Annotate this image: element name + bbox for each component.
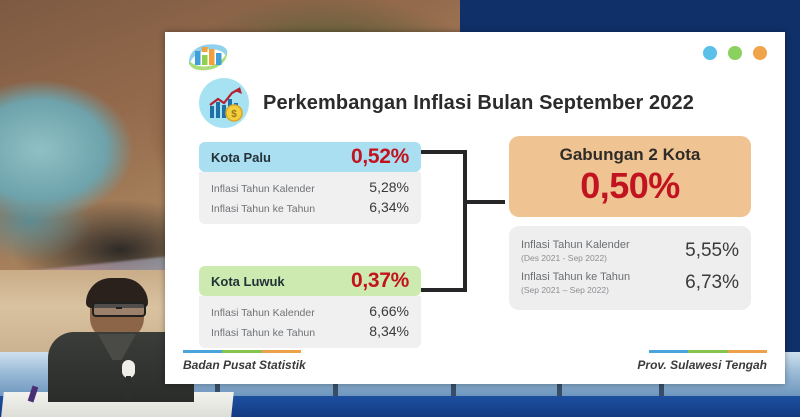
city-header-palu: Kota Palu 0,52% — [199, 142, 421, 172]
city-inflation-value: 0,52% — [351, 145, 409, 169]
detail-label-text: Inflasi Tahun ke Tahun — [521, 271, 630, 283]
svg-text:$: $ — [231, 109, 237, 120]
header-dots — [703, 46, 767, 60]
presentation-slide: $ Perkembangan Inflasi Bulan September 2… — [165, 32, 785, 384]
detail-period: (Sep 2021 – Sep 2022) — [521, 285, 630, 296]
detail-row: Inflasi Tahun ke Tahun 8,34% — [211, 321, 409, 341]
detail-row: Inflasi Tahun Kalender (Des 2021 - Sep 2… — [521, 235, 739, 267]
detail-label-text: Inflasi Tahun Kalender — [521, 239, 630, 251]
bps-logo — [185, 40, 231, 74]
detail-label: Inflasi Tahun Kalender — [211, 307, 315, 319]
microphone-icon — [122, 360, 135, 378]
city-name: Kota Luwuk — [211, 274, 351, 289]
city-details-luwuk: Inflasi Tahun Kalender 6,66% Inflasi Tah… — [199, 296, 421, 348]
detail-row: Inflasi Tahun ke Tahun 6,34% — [211, 197, 409, 217]
detail-row: Inflasi Tahun Kalender 5,28% — [211, 177, 409, 197]
bracket-out-arm — [463, 200, 505, 204]
detail-value: 5,28% — [355, 179, 409, 195]
dot-green-icon — [728, 46, 742, 60]
detail-value: 6,66% — [355, 303, 409, 319]
city-header-luwuk: Kota Luwuk 0,37% — [199, 266, 421, 296]
slide-title-row: $ Perkembangan Inflasi Bulan September 2… — [199, 78, 694, 128]
detail-period: (Des 2021 - Sep 2022) — [521, 253, 630, 264]
combined-details: Inflasi Tahun Kalender (Des 2021 - Sep 2… — [509, 226, 751, 310]
combined-value: 0,50% — [519, 167, 741, 205]
city-details-palu: Inflasi Tahun Kalender 5,28% Inflasi Tah… — [199, 172, 421, 224]
combined-card: Gabungan 2 Kota 0,50% Inflasi Tahun Kale… — [509, 136, 751, 310]
detail-label: Inflasi Tahun ke Tahun — [211, 327, 315, 339]
footer-province: Prov. Sulawesi Tengah — [637, 358, 767, 372]
city-inflation-value: 0,37% — [351, 269, 409, 293]
detail-label: Inflasi Tahun ke Tahun — [211, 203, 315, 215]
footer-organization: Badan Pusat Statistik — [183, 358, 306, 372]
detail-value: 8,34% — [355, 323, 409, 339]
detail-label: Inflasi Tahun Kalender (Des 2021 - Sep 2… — [521, 239, 630, 263]
bracket-spine — [463, 150, 467, 292]
bracket-bottom-arm — [421, 288, 467, 292]
city-name: Kota Palu — [211, 150, 351, 165]
combined-header: Gabungan 2 Kota 0,50% — [509, 136, 751, 217]
city-card-palu: Kota Palu 0,52% Inflasi Tahun Kalender 5… — [199, 142, 421, 224]
city-cards: Kota Palu 0,52% Inflasi Tahun Kalender 5… — [199, 142, 421, 348]
detail-value: 5,55% — [685, 240, 739, 262]
bracket-connector — [421, 150, 505, 292]
detail-row: Inflasi Tahun ke Tahun (Sep 2021 – Sep 2… — [521, 267, 739, 299]
combined-title: Gabungan 2 Kota — [519, 145, 741, 165]
glasses-icon — [92, 302, 146, 317]
detail-row: Inflasi Tahun Kalender 6,66% — [211, 301, 409, 321]
page-title: Perkembangan Inflasi Bulan September 202… — [263, 92, 694, 115]
footer-rule-left — [183, 350, 301, 353]
detail-label: Inflasi Tahun ke Tahun (Sep 2021 – Sep 2… — [521, 271, 630, 295]
detail-label: Inflasi Tahun Kalender — [211, 183, 315, 195]
footer-rule-right — [649, 350, 767, 353]
dot-blue-icon — [703, 46, 717, 60]
city-card-luwuk: Kota Luwuk 0,37% Inflasi Tahun Kalender … — [199, 266, 421, 348]
detail-value: 6,34% — [355, 199, 409, 215]
dot-orange-icon — [753, 46, 767, 60]
slide-footer: Badan Pusat Statistik Prov. Sulawesi Ten… — [165, 350, 785, 384]
inflation-chart-icon: $ — [199, 78, 249, 128]
detail-value: 6,73% — [685, 272, 739, 294]
bracket-top-arm — [421, 150, 467, 154]
column-spacer — [199, 224, 421, 266]
